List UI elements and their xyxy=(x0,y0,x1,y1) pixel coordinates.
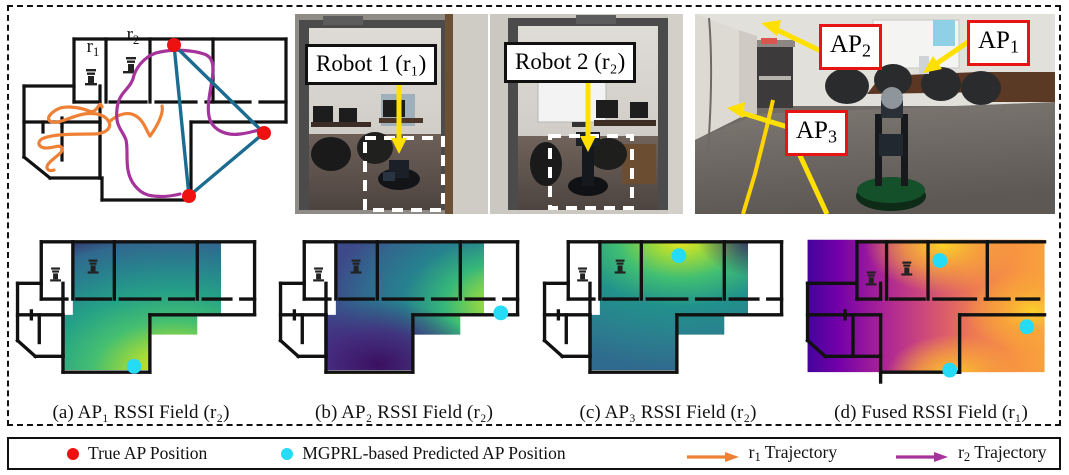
legend-r1-trajectory-label: r1 Trajectory xyxy=(749,442,837,465)
photo-access-points: AP2 AP1 AP3 xyxy=(695,14,1055,214)
r2-arrow-icon xyxy=(895,447,949,459)
predicted-ap-marker xyxy=(493,305,508,320)
panel-b-caption: (b) AP₂ RSSI Field (r₂) xyxy=(273,402,535,424)
figure-root: r1 r2 xyxy=(0,0,1069,475)
room-label-r2: r2 xyxy=(127,24,140,47)
callout-ap3: AP3 xyxy=(785,110,848,156)
panel-a-caption: (a) AP₁ RSSI Field (r₂) xyxy=(10,402,272,424)
legend-true-ap-label: True AP Position xyxy=(88,443,207,464)
panel-c-caption: (c) AP₃ RSSI Field (r₂) xyxy=(537,402,799,424)
legend-r2-trajectory: r2 Trajectory xyxy=(895,442,1046,465)
floor-plan-with-trajectories: r1 r2 xyxy=(14,10,289,216)
callout-robot-2: Robot 2 (r₂) xyxy=(504,42,636,83)
true-ap-dot-icon xyxy=(67,448,79,460)
panel-a-ap1-rssi-field: (a) AP₁ RSSI Field (r₂) xyxy=(10,222,272,422)
panel-d-caption: (d) Fused RSSI Field (r₁) xyxy=(800,402,1062,424)
figure-legend: True AP Position MGPRL-based Predicted A… xyxy=(7,437,1061,470)
r1-arrow-icon xyxy=(686,447,740,459)
heatmap-surface-c xyxy=(539,224,798,384)
callout-ap2: AP2 xyxy=(819,24,882,70)
legend-r2-trajectory-label: r2 Trajectory xyxy=(958,442,1046,465)
legend-true-ap: True AP Position xyxy=(67,443,207,464)
predicted-ap-marker xyxy=(127,359,142,374)
heatmap-surface-d xyxy=(802,224,1061,384)
figure-row-bottom: (a) AP₁ RSSI Field (r₂) xyxy=(10,222,1058,422)
predicted-ap-dot-icon xyxy=(281,448,293,460)
room-fixture-icon xyxy=(85,57,136,85)
r1-trajectory-path xyxy=(39,104,150,170)
panel-c-ap3-rssi-field: (c) AP₃ RSSI Field (r₂) xyxy=(537,222,799,422)
r1-trajectory-path-2 xyxy=(150,106,162,136)
predicted-ap-marker xyxy=(671,248,686,263)
callout-ap1: AP1 xyxy=(967,20,1030,66)
panel-b-ap2-rssi-field: (b) AP₂ RSSI Field (r₂) xyxy=(273,222,535,422)
panel-d-fused-rssi-field: (d) Fused RSSI Field (r₁) xyxy=(800,222,1062,422)
photo-robot-1: Robot 1 (r₁) xyxy=(295,14,488,214)
callout-robot-1: Robot 1 (r₁) xyxy=(305,44,437,85)
heatmap-surface-a xyxy=(12,224,271,384)
legend-predicted-ap-label: MGPRL-based Predicted AP Position xyxy=(302,443,565,464)
heatmap-surface-b xyxy=(275,224,534,384)
legend-predicted-ap: MGPRL-based Predicted AP Position xyxy=(281,443,565,464)
photo-robot-2: Robot 2 (r₂) xyxy=(490,14,683,214)
legend-r1-trajectory: r1 Trajectory xyxy=(686,442,837,465)
figure-row-top: r1 r2 xyxy=(10,8,1058,218)
